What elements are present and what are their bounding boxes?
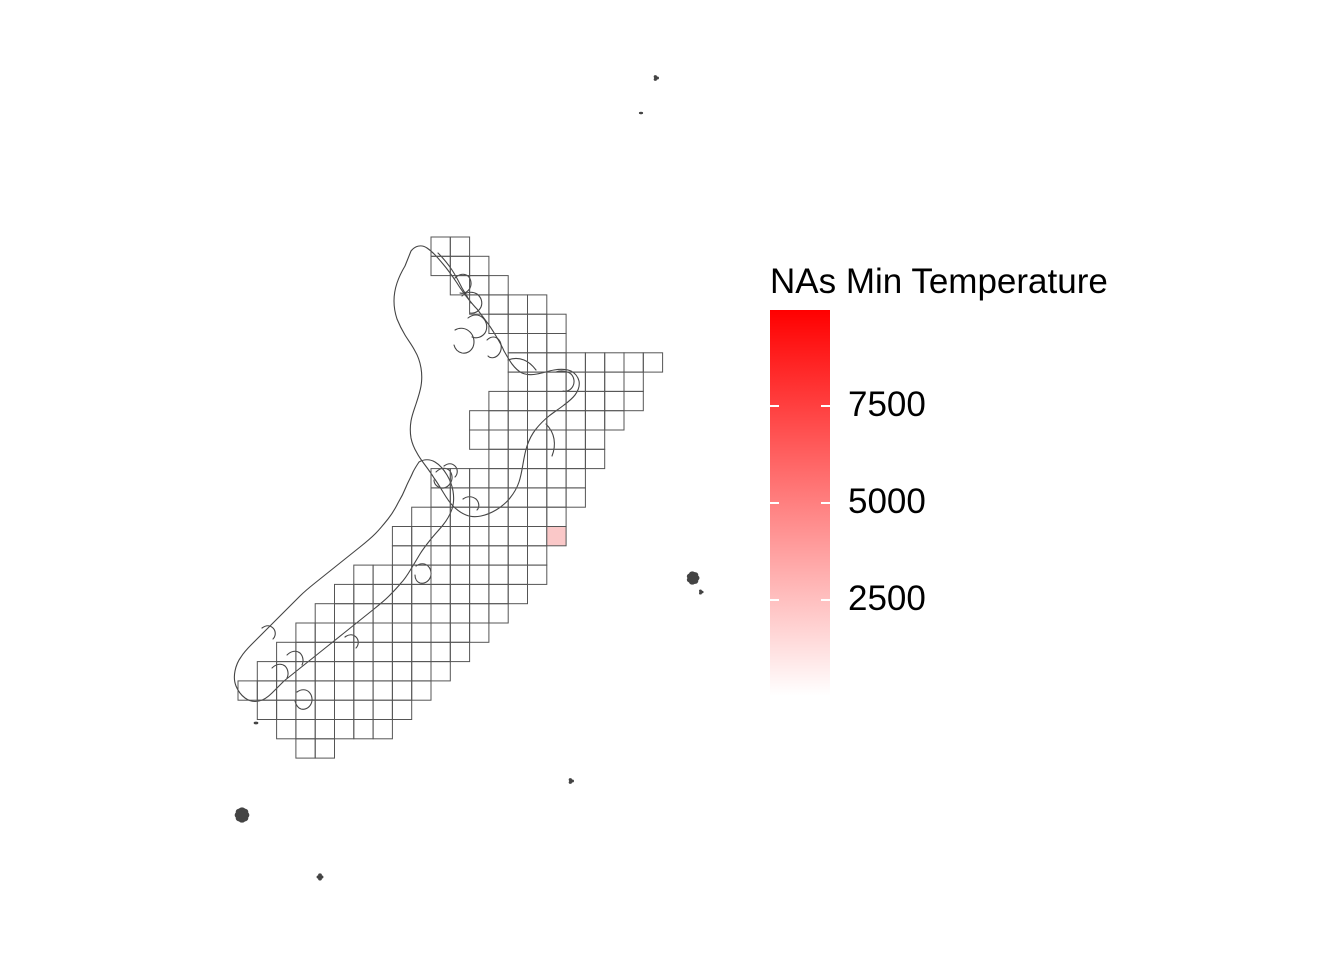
grid-cell[interactable]: [470, 604, 489, 623]
grid-cell[interactable]: [566, 430, 585, 449]
auckland-islands: [235, 808, 249, 823]
grid-cell[interactable]: [450, 469, 469, 488]
grid-cell[interactable]: [277, 642, 296, 661]
grid-cell[interactable]: [547, 314, 566, 333]
grid-cell[interactable]: [315, 700, 334, 719]
grid-cell[interactable]: [354, 720, 373, 739]
grid-cell[interactable]: [547, 449, 566, 468]
grid-cell[interactable]: [392, 700, 411, 719]
grid-cell[interactable]: [392, 642, 411, 661]
grid-cell[interactable]: [315, 739, 334, 758]
grid-cell[interactable]: [470, 546, 489, 565]
grid-cell[interactable]: [373, 700, 392, 719]
grid-cell[interactable]: [412, 681, 431, 700]
fiordland-detail-2: [272, 664, 288, 678]
grid-cell[interactable]: [528, 527, 547, 546]
grid-cell[interactable]: [470, 469, 489, 488]
grid-cell[interactable]: [450, 565, 469, 584]
grid-cell[interactable]: [315, 623, 334, 642]
grid-cell[interactable]: [508, 372, 527, 391]
grid-cell[interactable]: [277, 681, 296, 700]
grid-cell[interactable]: [392, 681, 411, 700]
grid-cell[interactable]: [335, 720, 354, 739]
grid-cell[interactable]: [470, 411, 489, 430]
grid-cell[interactable]: [508, 314, 527, 333]
grid-cell[interactable]: [315, 720, 334, 739]
grid-cell[interactable]: [373, 662, 392, 681]
grid-cell[interactable]: [412, 623, 431, 642]
grid-cell[interactable]: [528, 565, 547, 584]
grid-cell[interactable]: [605, 353, 624, 372]
grid-cell[interactable]: [605, 391, 624, 410]
grid-cell[interactable]: [528, 295, 547, 314]
grid-cell[interactable]: [489, 507, 508, 526]
grid-cell[interactable]: [624, 353, 643, 372]
grid-cell[interactable]: [412, 507, 431, 526]
grid-cell[interactable]: [643, 353, 662, 372]
grid-cell[interactable]: [296, 700, 315, 719]
grid-cell[interactable]: [335, 700, 354, 719]
grid-cell[interactable]: [470, 430, 489, 449]
grid-cell[interactable]: [508, 584, 527, 603]
grid-cell[interactable]: [528, 469, 547, 488]
grid-cell[interactable]: [585, 430, 604, 449]
grid-cell[interactable]: [605, 411, 624, 430]
grid-cell[interactable]: [354, 565, 373, 584]
grid-cell[interactable]: [528, 449, 547, 468]
grid-cell[interactable]: [489, 449, 508, 468]
grid-cell[interactable]: [335, 681, 354, 700]
grid-cell[interactable]: [450, 527, 469, 546]
grid-cell[interactable]: [470, 527, 489, 546]
grid-cell[interactable]: [431, 546, 450, 565]
grid-cell[interactable]: [624, 372, 643, 391]
map-panel: [0, 0, 760, 960]
grid-cell[interactable]: [335, 604, 354, 623]
grid-cell[interactable]: [508, 334, 527, 353]
grid-cell[interactable]: [450, 642, 469, 661]
grid-cell[interactable]: [547, 372, 566, 391]
grid-cell[interactable]: [489, 546, 508, 565]
grid-cell[interactable]: [257, 662, 276, 681]
grid-cell[interactable]: [508, 391, 527, 410]
grid-cell[interactable]: [373, 623, 392, 642]
campbell-island: [317, 874, 323, 880]
colorbar-label-2500: 2500: [848, 581, 926, 616]
grid-cell[interactable]: [315, 681, 334, 700]
grid-cell[interactable]: [450, 623, 469, 642]
grid-cell[interactable]: [373, 604, 392, 623]
colorbar-tick-5000: [821, 502, 830, 504]
banks-peninsula: [415, 564, 431, 584]
grid-cell[interactable]: [335, 662, 354, 681]
colorbar-tick-7500: [770, 405, 779, 407]
grid-cell[interactable]: [489, 430, 508, 449]
grid-cell[interactable]: [585, 372, 604, 391]
coromandel-peninsula: [487, 337, 501, 358]
grid-cell[interactable]: [315, 642, 334, 661]
grid-cell[interactable]: [508, 430, 527, 449]
grid-cell[interactable]: [566, 411, 585, 430]
grid-cell[interactable]: [354, 584, 373, 603]
grid-cell[interactable]: [412, 584, 431, 603]
grid-cell[interactable]: [528, 353, 547, 372]
legend-panel: NAs Min Temperature 250050007500: [760, 0, 1344, 960]
grid-cell[interactable]: [431, 584, 450, 603]
fiordland-detail-1: [287, 651, 303, 665]
grid-cell[interactable]: [412, 662, 431, 681]
grid-cell[interactable]: [489, 314, 508, 333]
grid-cell[interactable]: [296, 720, 315, 739]
chatham-islands: [687, 572, 699, 585]
stewart-dot: [254, 722, 258, 724]
grid-cell[interactable]: [547, 469, 566, 488]
grid-cell[interactable]: [508, 411, 527, 430]
grid-cell[interactable]: [392, 623, 411, 642]
grid-cell[interactable]: [566, 353, 585, 372]
grid-cell[interactable]: [354, 642, 373, 661]
grid-cell[interactable]: [373, 584, 392, 603]
grid-cell[interactable]: [566, 469, 585, 488]
grid-cell[interactable]: [450, 546, 469, 565]
north-island-coastline: [394, 246, 579, 517]
grid-cell[interactable]: [508, 295, 527, 314]
grid-cell[interactable]: [450, 584, 469, 603]
colorbar-tick-2500: [770, 599, 779, 601]
grid-cell[interactable]: [257, 700, 276, 719]
grid-cell[interactable]: [450, 237, 469, 256]
grid-cell[interactable]: [605, 372, 624, 391]
legend-title: NAs Min Temperature: [770, 262, 1108, 302]
grid-cell[interactable]: [373, 681, 392, 700]
grid-cell[interactable]: [431, 662, 450, 681]
grid-cell[interactable]: [431, 488, 450, 507]
kermadec-dot-1: [654, 75, 659, 80]
grid-cell[interactable]: [489, 565, 508, 584]
grid-cell[interactable]: [624, 391, 643, 410]
grid-cell[interactable]: [392, 546, 411, 565]
grid-cell[interactable]: [547, 488, 566, 507]
auckland-isthmus: [454, 328, 474, 353]
grid-cell[interactable]: [547, 334, 566, 353]
chatham-dot: [699, 590, 703, 594]
grid-cell[interactable]: [585, 411, 604, 430]
grid-cell[interactable]: [470, 565, 489, 584]
grid-cell[interactable]: [508, 507, 527, 526]
grid-cell[interactable]: [470, 584, 489, 603]
grid-cell[interactable]: [354, 681, 373, 700]
grid-cell[interactable]: [238, 681, 257, 700]
bounty-dot: [569, 778, 574, 783]
grid-cell[interactable]: [489, 584, 508, 603]
grid-cell[interactable]: [528, 334, 547, 353]
grid-cell[interactable]: [392, 527, 411, 546]
grid-cell[interactable]: [547, 411, 566, 430]
grid-cell[interactable]: [489, 527, 508, 546]
grid-cell[interactable]: [373, 720, 392, 739]
colorbar-label-5000: 5000: [848, 484, 926, 519]
grid-cell[interactable]: [508, 527, 527, 546]
grid-cell[interactable]: [470, 623, 489, 642]
map-svg: [0, 0, 760, 960]
colorbar-label-7500: 7500: [848, 387, 926, 422]
grid-cell[interactable]: [431, 604, 450, 623]
grid-cell[interactable]: [296, 623, 315, 642]
grid-cell[interactable]: [508, 488, 527, 507]
grid-cell[interactable]: [489, 391, 508, 410]
grid-cell[interactable]: [392, 662, 411, 681]
grid-cell[interactable]: [431, 507, 450, 526]
grid-cell-highlighted[interactable]: [547, 527, 566, 546]
grid-cell[interactable]: [489, 604, 508, 623]
grid-cell[interactable]: [585, 391, 604, 410]
grid-cell[interactable]: [508, 449, 527, 468]
grid-cell[interactable]: [585, 449, 604, 468]
grid-cell[interactable]: [547, 507, 566, 526]
grid-cell[interactable]: [547, 430, 566, 449]
south-island-coastline: [234, 460, 453, 702]
grid-cell[interactable]: [431, 565, 450, 584]
grid-cell[interactable]: [450, 507, 469, 526]
otago-peninsula: [345, 635, 358, 648]
grid-cell[interactable]: [528, 507, 547, 526]
grid-cell[interactable]: [431, 642, 450, 661]
colorbar-tick-7500: [821, 405, 830, 407]
stewart-island: [295, 690, 312, 710]
grid-cell[interactable]: [489, 276, 508, 295]
grid-cell[interactable]: [489, 469, 508, 488]
grid-cell[interactable]: [335, 584, 354, 603]
grid-cell[interactable]: [585, 353, 604, 372]
grid-cell[interactable]: [489, 411, 508, 430]
grid-cell[interactable]: [508, 565, 527, 584]
grid-cell[interactable]: [566, 488, 585, 507]
colorbar-tick-2500: [821, 599, 830, 601]
east-cape: [556, 371, 574, 391]
grid-cell[interactable]: [315, 604, 334, 623]
grid-cell[interactable]: [528, 546, 547, 565]
grid-cell[interactable]: [373, 642, 392, 661]
north-island-detail-4: [468, 315, 487, 338]
grid-cell[interactable]: [354, 662, 373, 681]
grid-cell[interactable]: [528, 488, 547, 507]
grid-cell[interactable]: [277, 700, 296, 719]
grid-cell[interactable]: [528, 314, 547, 333]
grid-cell[interactable]: [277, 720, 296, 739]
colorbar-tick-5000: [770, 502, 779, 504]
grid-cell[interactable]: [508, 546, 527, 565]
grid-cell[interactable]: [547, 391, 566, 410]
grid-cell[interactable]: [431, 623, 450, 642]
grid-cell[interactable]: [450, 604, 469, 623]
grid-cell[interactable]: [528, 391, 547, 410]
wellington-harbour: [463, 497, 479, 510]
grid-cell[interactable]: [412, 642, 431, 661]
grid-cell[interactable]: [373, 565, 392, 584]
grid-cell[interactable]: [566, 449, 585, 468]
figure-canvas: NAs Min Temperature 250050007500: [0, 0, 1344, 960]
grid-cell[interactable]: [431, 256, 450, 275]
grid-cell[interactable]: [470, 256, 489, 275]
grid-cell[interactable]: [392, 604, 411, 623]
grid-cell[interactable]: [354, 623, 373, 642]
grid-cell-layer[interactable]: [238, 237, 663, 758]
grid-cell[interactable]: [489, 488, 508, 507]
grid-cell[interactable]: [354, 700, 373, 719]
grid-cell[interactable]: [296, 739, 315, 758]
grid-cell[interactable]: [354, 604, 373, 623]
grid-cell[interactable]: [392, 584, 411, 603]
grid-cell[interactable]: [296, 662, 315, 681]
grid-cell[interactable]: [315, 662, 334, 681]
grid-cell[interactable]: [489, 295, 508, 314]
grid-cell[interactable]: [412, 604, 431, 623]
kermadec-dot-2: [639, 112, 642, 114]
grid-cell[interactable]: [335, 642, 354, 661]
grid-cell[interactable]: [528, 430, 547, 449]
colorbar[interactable]: 250050007500: [770, 310, 830, 696]
